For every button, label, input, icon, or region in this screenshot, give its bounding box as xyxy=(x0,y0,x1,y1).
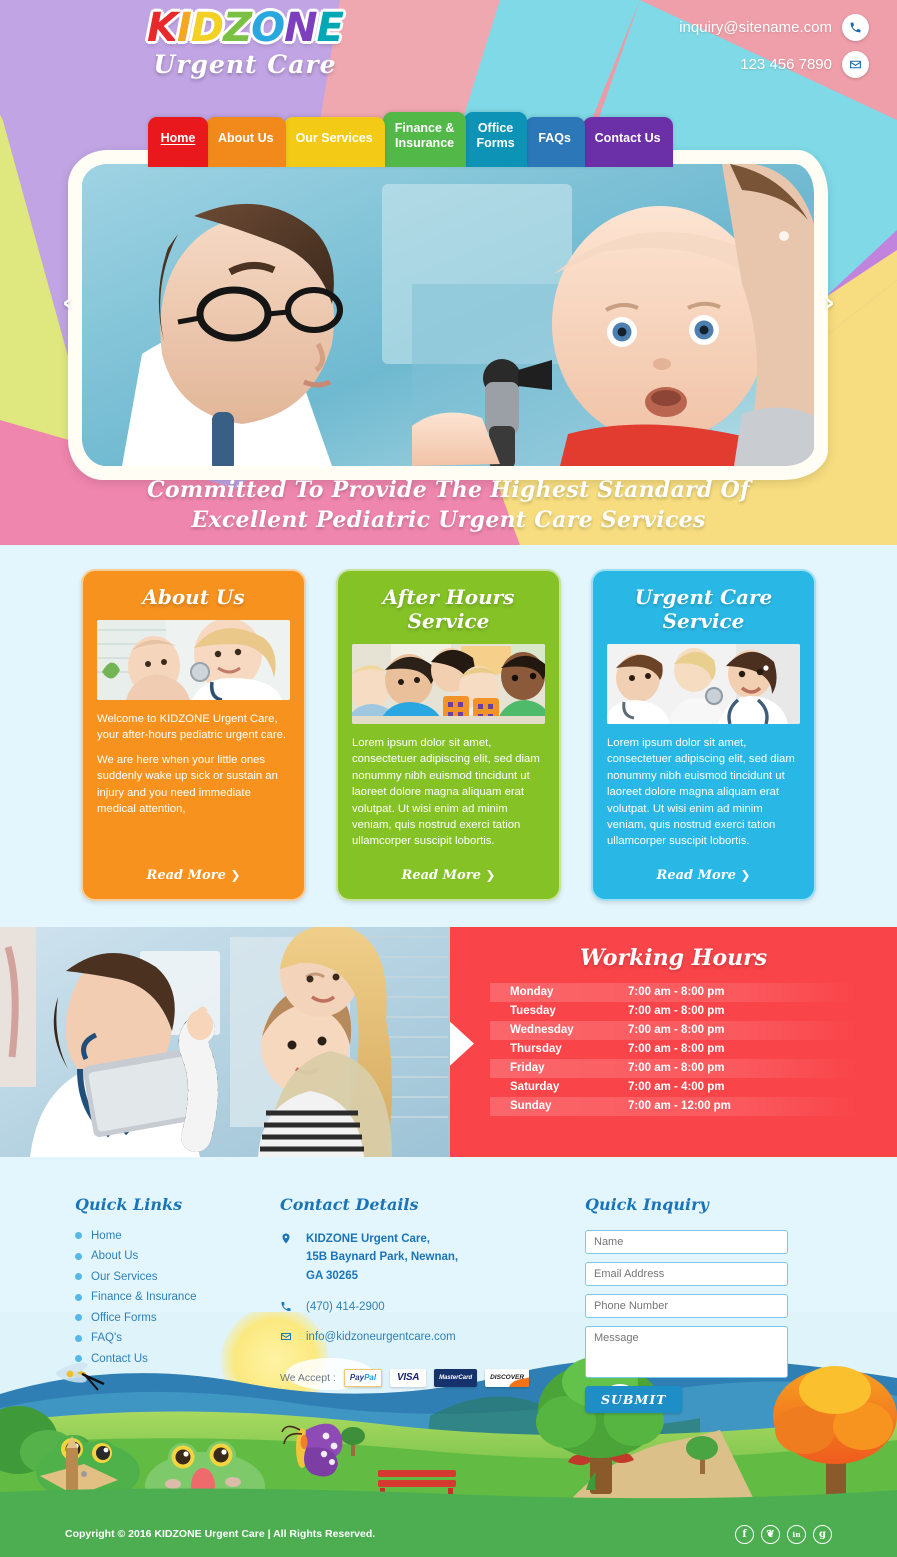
hours-day: Sunday xyxy=(510,1100,628,1112)
nav-item-label: Contact Us xyxy=(595,131,661,145)
hours-time: 7:00 am - 4:00 pm xyxy=(628,1081,725,1093)
footer-phone-text: (470) 414-2900 xyxy=(306,1298,385,1317)
footer-email-row[interactable]: info@kidzoneurgentcare.com xyxy=(280,1328,575,1347)
nav-item-label: OfficeForms xyxy=(476,121,514,150)
quick-link-item[interactable]: Contact Us xyxy=(75,1353,280,1365)
quick-link-label: About Us xyxy=(91,1250,138,1262)
logo-letter: E xyxy=(317,8,343,48)
nav-item-finance[interactable]: Finance &Insurance xyxy=(383,112,467,167)
quick-links-column: Quick Links HomeAbout UsOur ServicesFina… xyxy=(75,1195,280,1413)
hours-day: Monday xyxy=(510,986,628,998)
nav-item-faqs[interactable]: FAQs xyxy=(525,117,585,167)
read-more-link[interactable]: Read More ❯ xyxy=(352,858,545,883)
site-footer: Quick Links HomeAbout UsOur ServicesFina… xyxy=(0,1157,897,1557)
nav-item-about-us[interactable]: About Us xyxy=(206,117,286,167)
name-input[interactable] xyxy=(585,1230,788,1254)
card-title: About Us xyxy=(97,585,290,609)
hours-time: 7:00 am - 8:00 pm xyxy=(628,1005,725,1017)
quick-links-title: Quick Links xyxy=(75,1195,280,1214)
footer-email-text: info@kidzoneurgentcare.com xyxy=(306,1328,456,1347)
header-contact-info: inquiry@sitename.com 123 456 7890 xyxy=(679,14,869,88)
quick-link-item[interactable]: Office Forms xyxy=(75,1312,280,1324)
quick-link-label: Finance & Insurance xyxy=(91,1291,196,1303)
nav-item-label: FAQs xyxy=(538,131,571,145)
hours-row: Wednesday7:00 am - 8:00 pm xyxy=(490,1021,857,1040)
facebook-icon[interactable]: f xyxy=(735,1525,754,1544)
social-links: f❦ing xyxy=(735,1525,832,1544)
logo-wordmark: KIDZONE xyxy=(130,8,360,48)
chevron-right-icon: ❯ xyxy=(485,868,495,882)
discover-icon: DISCOVER xyxy=(485,1369,529,1387)
bullet-icon xyxy=(75,1335,82,1342)
quick-inquiry-column: Quick Inquiry SUBMIT xyxy=(575,1195,788,1413)
bullet-icon xyxy=(75,1253,82,1260)
clinic-photo xyxy=(0,927,450,1157)
hours-day: Friday xyxy=(510,1062,628,1074)
mastercard-icon: MasterCard xyxy=(434,1369,477,1387)
main-navigation[interactable]: HomeAbout UsOur ServicesFinance &Insuran… xyxy=(148,112,671,167)
footer-columns: Quick Links HomeAbout UsOur ServicesFina… xyxy=(0,1157,897,1413)
visa-icon: VISA xyxy=(390,1369,426,1387)
hours-row: Friday7:00 am - 8:00 pm xyxy=(490,1059,857,1078)
map-pin-icon xyxy=(280,1230,294,1245)
cards-row: About UsWelcome to KIDZONE Urgent Care, … xyxy=(0,569,897,901)
hours-row: Monday7:00 am - 8:00 pm xyxy=(490,983,857,1002)
working-hours-list: Monday7:00 am - 8:00 pmTuesday7:00 am - … xyxy=(490,983,857,1116)
site-logo[interactable]: KIDZONE Urgent Care xyxy=(130,8,360,79)
nav-item-home[interactable]: Home xyxy=(148,117,208,167)
read-more-link[interactable]: Read More ❯ xyxy=(97,858,290,883)
quick-links-list: HomeAbout UsOur ServicesFinance & Insura… xyxy=(75,1230,280,1365)
logo-letter: Z xyxy=(223,8,251,48)
quick-inquiry-title: Quick Inquiry xyxy=(585,1195,788,1214)
copyright-text: Copyright © 2016 KIDZONE Urgent Care | A… xyxy=(65,1528,375,1540)
working-hours-title: Working Hours xyxy=(490,945,857,971)
quick-link-item[interactable]: Finance & Insurance xyxy=(75,1291,280,1303)
card-paragraph: Lorem ipsum dolor sit amet, consectetuer… xyxy=(352,735,545,850)
card-image xyxy=(607,644,800,724)
nav-item-contact-us[interactable]: Contact Us xyxy=(583,117,673,167)
hours-time: 7:00 am - 8:00 pm xyxy=(628,1024,725,1036)
nav-item-our-services[interactable]: Our Services xyxy=(284,117,385,167)
quick-link-label: Office Forms xyxy=(91,1312,157,1324)
hours-time: 7:00 am - 12:00 pm xyxy=(628,1100,731,1112)
header-phone-text: 123 456 7890 xyxy=(740,56,832,73)
card-paragraph: Lorem ipsum dolor sit amet, consectetuer… xyxy=(607,735,800,850)
hero-tagline-line1: Committed To Provide The Highest Standar… xyxy=(0,476,897,506)
header-email-text: inquiry@sitename.com xyxy=(679,19,832,36)
logo-letter: N xyxy=(284,8,316,48)
phone-input[interactable] xyxy=(585,1294,788,1318)
header-phone-row: 123 456 7890 xyxy=(679,51,869,78)
linkedin-icon[interactable]: in xyxy=(787,1525,806,1544)
bullet-icon xyxy=(75,1294,82,1301)
nav-item-label: Finance &Insurance xyxy=(395,121,455,150)
email-input[interactable] xyxy=(585,1262,788,1286)
service-card: Urgent Care ServiceLorem ipsum dolor sit… xyxy=(591,569,816,901)
logo-letter: D xyxy=(191,8,223,48)
hours-day: Saturday xyxy=(510,1081,628,1093)
quick-link-label: FAQ's xyxy=(91,1332,122,1344)
quick-link-item[interactable]: Home xyxy=(75,1230,280,1242)
chevron-right-icon: ❯ xyxy=(230,868,240,882)
payment-methods: We Accept : PayPal VISA MasterCard DISCO… xyxy=(280,1369,575,1387)
card-paragraph: Welcome to KIDZONE Urgent Care, your aft… xyxy=(97,711,290,744)
card-paragraph: We are here when your little ones sudden… xyxy=(97,752,290,818)
card-image xyxy=(352,644,545,724)
card-title: After Hours Service xyxy=(352,585,545,633)
hours-time: 7:00 am - 8:00 pm xyxy=(628,986,725,998)
address-line-3: GA 30265 xyxy=(306,1270,358,1282)
quick-link-label: Our Services xyxy=(91,1271,157,1283)
google-plus-icon[interactable]: g xyxy=(813,1525,832,1544)
hours-row: Saturday7:00 am - 4:00 pm xyxy=(490,1078,857,1097)
logo-letter: O xyxy=(251,8,284,48)
message-textarea[interactable] xyxy=(585,1326,788,1378)
nav-item-label: About Us xyxy=(218,131,274,145)
service-card: About UsWelcome to KIDZONE Urgent Care, … xyxy=(81,569,306,901)
read-more-link[interactable]: Read More ❯ xyxy=(607,858,800,883)
bullet-icon xyxy=(75,1273,82,1280)
hours-row: Thursday7:00 am - 8:00 pm xyxy=(490,1040,857,1059)
hero-tagline-line2: Excellent Pediatric Urgent Care Services xyxy=(0,506,897,536)
hours-day: Thursday xyxy=(510,1043,628,1055)
phone-icon[interactable] xyxy=(842,14,869,41)
paypal-icon: PayPal xyxy=(344,1369,382,1387)
nav-item-label: Our Services xyxy=(296,131,373,145)
phone-icon xyxy=(280,1298,294,1313)
chevron-right-icon: ❯ xyxy=(740,868,750,882)
quick-link-label: Contact Us xyxy=(91,1353,148,1365)
hours-row: Sunday7:00 am - 12:00 pm xyxy=(490,1097,857,1116)
header-hero: KIDZONE Urgent Care inquiry@sitename.com… xyxy=(0,0,897,545)
envelope-icon xyxy=(280,1328,294,1343)
copyright-bar: Copyright © 2016 KIDZONE Urgent Care | A… xyxy=(0,1512,897,1557)
submit-button[interactable]: SUBMIT xyxy=(585,1386,682,1413)
hours-time: 7:00 am - 8:00 pm xyxy=(628,1062,725,1074)
hero-carousel-frame xyxy=(68,150,828,480)
we-accept-label: We Accept : xyxy=(280,1372,336,1384)
hours-time: 7:00 am - 8:00 pm xyxy=(628,1043,725,1055)
contact-details-column: Contact Details KIDZONE Urgent Care, 15B… xyxy=(280,1195,575,1413)
contact-details-title: Contact Details xyxy=(280,1195,575,1214)
card-image xyxy=(97,620,290,700)
nav-item-label: Home xyxy=(161,131,196,145)
address-text: KIDZONE Urgent Care, 15B Baynard Park, N… xyxy=(306,1230,458,1286)
address-line-1: KIDZONE Urgent Care, xyxy=(306,1233,430,1245)
logo-letter: K xyxy=(147,8,177,48)
service-card: After Hours ServiceLorem ipsum dolor sit… xyxy=(336,569,561,901)
logo-subtitle: Urgent Care xyxy=(130,50,360,79)
hero-tagline: Committed To Provide The Highest Standar… xyxy=(0,476,897,535)
hours-day: Tuesday xyxy=(510,1005,628,1017)
quick-link-item[interactable]: FAQ's xyxy=(75,1332,280,1344)
quick-link-label: Home xyxy=(91,1230,122,1242)
quick-link-item[interactable]: About Us xyxy=(75,1250,280,1262)
logo-letter: I xyxy=(177,8,191,48)
envelope-icon[interactable] xyxy=(842,51,869,78)
address-row: KIDZONE Urgent Care, 15B Baynard Park, N… xyxy=(280,1230,575,1286)
twitter-icon[interactable]: ❦ xyxy=(761,1525,780,1544)
carousel-prev-button[interactable]: ‹ xyxy=(62,290,73,316)
bullet-icon xyxy=(75,1314,82,1321)
nav-item-office[interactable]: OfficeForms xyxy=(464,112,526,167)
services-cards-section: About UsWelcome to KIDZONE Urgent Care, … xyxy=(0,545,897,927)
carousel-next-button[interactable]: › xyxy=(824,290,835,316)
working-hours-panel: Working Hours Monday7:00 am - 8:00 pmTue… xyxy=(450,927,897,1157)
hours-day: Wednesday xyxy=(510,1024,628,1036)
address-line-2: 15B Baynard Park, Newnan, xyxy=(306,1251,458,1263)
footer-phone-row[interactable]: (470) 414-2900 xyxy=(280,1298,575,1317)
header-email-row: inquiry@sitename.com xyxy=(679,14,869,41)
hours-section: Working Hours Monday7:00 am - 8:00 pmTue… xyxy=(0,927,897,1157)
hero-image xyxy=(82,164,814,466)
card-title: Urgent Care Service xyxy=(607,585,800,633)
quick-link-item[interactable]: Our Services xyxy=(75,1271,280,1283)
bullet-icon xyxy=(75,1232,82,1239)
bullet-icon xyxy=(75,1355,82,1362)
hours-row: Tuesday7:00 am - 8:00 pm xyxy=(490,1002,857,1021)
